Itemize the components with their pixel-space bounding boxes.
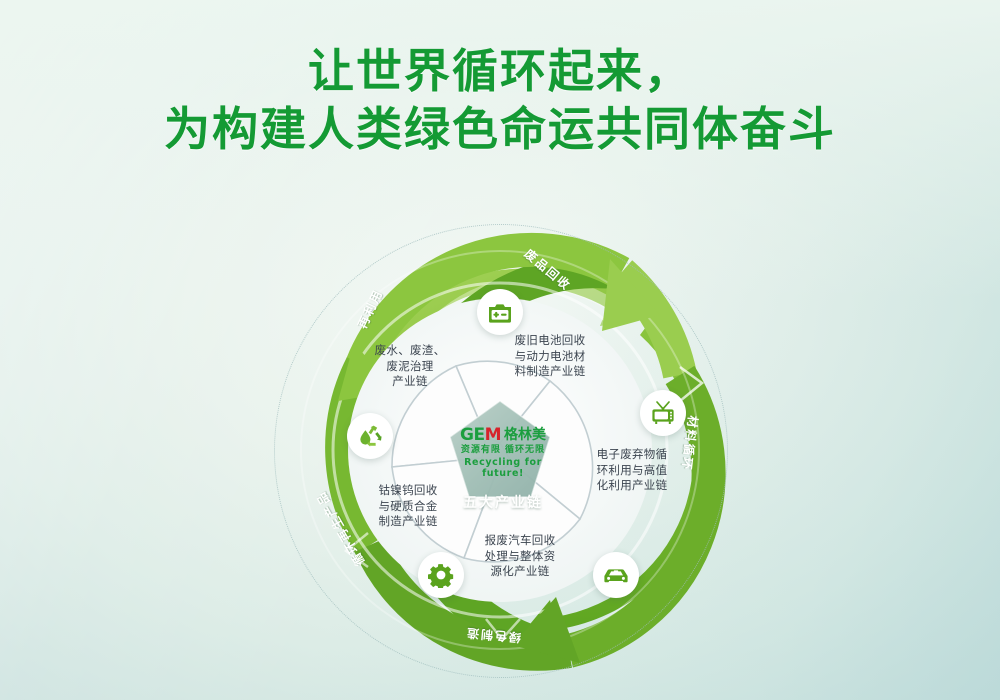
chain-label-battery-line1: 废旧电池回收 xyxy=(495,333,605,349)
chain-label-water-line1: 废水、废渣、 xyxy=(355,343,465,359)
icon-bubble-water-recycle[interactable] xyxy=(347,413,393,459)
logo-brand-latin: GEM xyxy=(460,427,501,444)
chain-label-ewaste-line3: 化利用产业链 xyxy=(577,478,687,494)
chain-label-water-line3: 产业链 xyxy=(355,374,465,390)
icon-bubble-car[interactable] xyxy=(593,552,639,598)
chain-label-water: 废水、废渣、 废泥治理 产业链 xyxy=(355,343,465,390)
icon-bubble-battery[interactable] xyxy=(477,289,523,335)
tv-icon xyxy=(650,400,676,426)
logo-brand-mark: M xyxy=(485,425,501,445)
chain-label-car-line1: 报废汽车回收 xyxy=(465,533,575,549)
chain-label-metal-line3: 制造产业链 xyxy=(353,514,463,530)
battery-icon xyxy=(487,300,513,324)
chain-label-battery: 废旧电池回收 与动力电池材 料制造产业链 xyxy=(495,333,605,380)
chain-label-car-line3: 源化产业链 xyxy=(465,564,575,580)
water-recycle-icon xyxy=(356,423,384,449)
icon-bubble-tv[interactable] xyxy=(640,390,686,436)
circular-industry-diagram: 废旧电池回收 与动力电池材 料制造产业链 废水、废渣、 废泥治理 产业链 电子废… xyxy=(250,215,750,685)
chain-label-battery-line2: 与动力电池材 xyxy=(495,349,605,365)
gear-icon xyxy=(428,562,454,588)
logo-slogan-chinese: 资源有限 循环无限 xyxy=(444,445,562,456)
title-line-2: 为构建人类绿色命运共同体奋斗 xyxy=(0,100,1000,158)
title-line-1: 让世界循环起来， xyxy=(308,44,692,98)
chain-label-ewaste-line2: 环利用与高值 xyxy=(577,463,687,479)
gem-logo: GEM 格林美 资源有限 循环无限 Recycling for future! … xyxy=(444,427,562,512)
logo-brand-row: GEM 格林美 xyxy=(444,427,562,444)
logo-slogan-english: Recycling for future! xyxy=(444,457,562,479)
car-icon xyxy=(602,564,630,586)
chain-label-water-line2: 废泥治理 xyxy=(355,359,465,375)
chain-label-car-line2: 处理与整体资 xyxy=(465,549,575,565)
logo-brand-chinese: 格林美 xyxy=(504,428,546,443)
center-caption: 五大产业链 xyxy=(444,492,562,512)
icon-bubble-gear[interactable] xyxy=(418,552,464,598)
chain-label-battery-line3: 料制造产业链 xyxy=(495,364,605,380)
page-title: 让世界循环起来， 为构建人类绿色命运共同体奋斗 xyxy=(0,42,1000,158)
chain-label-ewaste: 电子废弃物循 环利用与高值 化利用产业链 xyxy=(577,447,687,494)
chain-label-car: 报废汽车回收 处理与整体资 源化产业链 xyxy=(465,533,575,580)
chain-label-ewaste-line1: 电子废弃物循 xyxy=(577,447,687,463)
